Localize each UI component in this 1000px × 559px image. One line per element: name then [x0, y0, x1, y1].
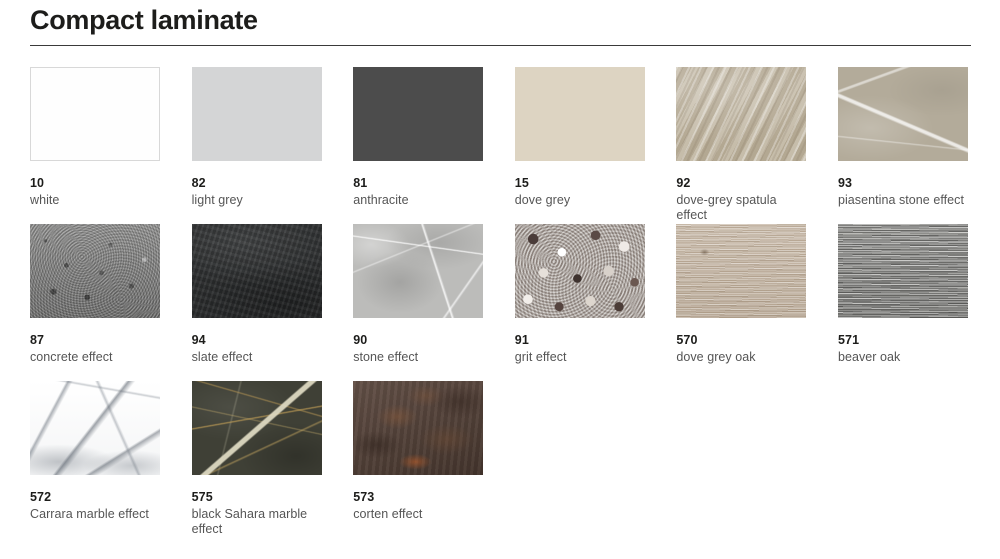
swatch-cell-90[interactable]: 90stone effect: [353, 224, 483, 381]
swatch-cell-570[interactable]: 570dove grey oak: [676, 224, 806, 381]
swatch-row: 572Carrara marble effect575black Sahara …: [30, 381, 975, 538]
swatch-cell-91[interactable]: 91grit effect: [515, 224, 645, 381]
swatch-code: 81: [353, 176, 483, 191]
swatch-row: 87concrete effect94slate effect90stone e…: [30, 224, 975, 381]
swatch-cell-87[interactable]: 87concrete effect: [30, 224, 160, 381]
swatch-code: 572: [30, 490, 160, 505]
swatch-grid: 10white82light grey81anthracite15dove gr…: [30, 67, 975, 538]
swatch-name: anthracite: [353, 193, 483, 208]
swatch-name: black Sahara marble effect: [192, 507, 322, 537]
swatch-name: corten effect: [353, 507, 483, 522]
swatch-chip-570[interactable]: [676, 224, 806, 318]
swatch-cell-92[interactable]: 92dove-grey spatula effect: [676, 67, 806, 224]
swatch-code: 575: [192, 490, 322, 505]
swatch-cell-82[interactable]: 82light grey: [192, 67, 322, 224]
swatch-chip-15[interactable]: [515, 67, 645, 161]
swatch-cell-572[interactable]: 572Carrara marble effect: [30, 381, 160, 538]
swatch-code: 90: [353, 333, 483, 348]
swatch-cell-10[interactable]: 10white: [30, 67, 160, 224]
swatch-name: grit effect: [515, 350, 645, 365]
swatch-code: 15: [515, 176, 645, 191]
swatch-code: 571: [838, 333, 968, 348]
swatch-chip-81[interactable]: [353, 67, 483, 161]
swatch-chip-572[interactable]: [30, 381, 160, 475]
swatch-name: beaver oak: [838, 350, 968, 365]
swatch-name: white: [30, 193, 160, 208]
swatch-code: 10: [30, 176, 160, 191]
swatch-code: 91: [515, 333, 645, 348]
swatch-chip-90[interactable]: [353, 224, 483, 318]
swatch-cell-571[interactable]: 571beaver oak: [838, 224, 968, 381]
swatch-chip-82[interactable]: [192, 67, 322, 161]
swatch-cell-94[interactable]: 94slate effect: [192, 224, 322, 381]
swatch-chip-10[interactable]: [30, 67, 160, 161]
swatch-code: 94: [192, 333, 322, 348]
swatch-cell-93[interactable]: 93piasentina stone effect: [838, 67, 968, 224]
swatch-chip-575[interactable]: [192, 381, 322, 475]
swatch-cell-15[interactable]: 15dove grey: [515, 67, 645, 224]
swatch-chip-94[interactable]: [192, 224, 322, 318]
swatch-name: stone effect: [353, 350, 483, 365]
page-title: Compact laminate: [30, 4, 258, 36]
swatch-chip-92[interactable]: [676, 67, 806, 161]
swatch-cell-573[interactable]: 573corten effect: [353, 381, 483, 538]
swatch-code: 93: [838, 176, 968, 191]
swatch-chip-573[interactable]: [353, 381, 483, 475]
swatch-chip-571[interactable]: [838, 224, 968, 318]
swatch-name: piasentina stone effect: [838, 193, 968, 208]
swatch-code: 570: [676, 333, 806, 348]
swatch-chip-87[interactable]: [30, 224, 160, 318]
swatch-code: 87: [30, 333, 160, 348]
swatch-name: dove-grey spatula effect: [676, 193, 806, 223]
swatch-code: 573: [353, 490, 483, 505]
swatch-cell-81[interactable]: 81anthracite: [353, 67, 483, 224]
swatch-code: 82: [192, 176, 322, 191]
title-divider: [30, 45, 971, 46]
swatch-chip-93[interactable]: [838, 67, 968, 161]
swatch-name: concrete effect: [30, 350, 160, 365]
swatch-code: 92: [676, 176, 806, 191]
swatch-chip-91[interactable]: [515, 224, 645, 318]
swatch-name: light grey: [192, 193, 322, 208]
swatch-name: dove grey: [515, 193, 645, 208]
swatch-name: Carrara marble effect: [30, 507, 160, 522]
swatch-name: slate effect: [192, 350, 322, 365]
swatch-name: dove grey oak: [676, 350, 806, 365]
swatch-cell-575[interactable]: 575black Sahara marble effect: [192, 381, 322, 538]
swatch-row: 10white82light grey81anthracite15dove gr…: [30, 67, 975, 224]
compact-laminate-page: Compact laminate 10white82light grey81an…: [0, 0, 1000, 559]
